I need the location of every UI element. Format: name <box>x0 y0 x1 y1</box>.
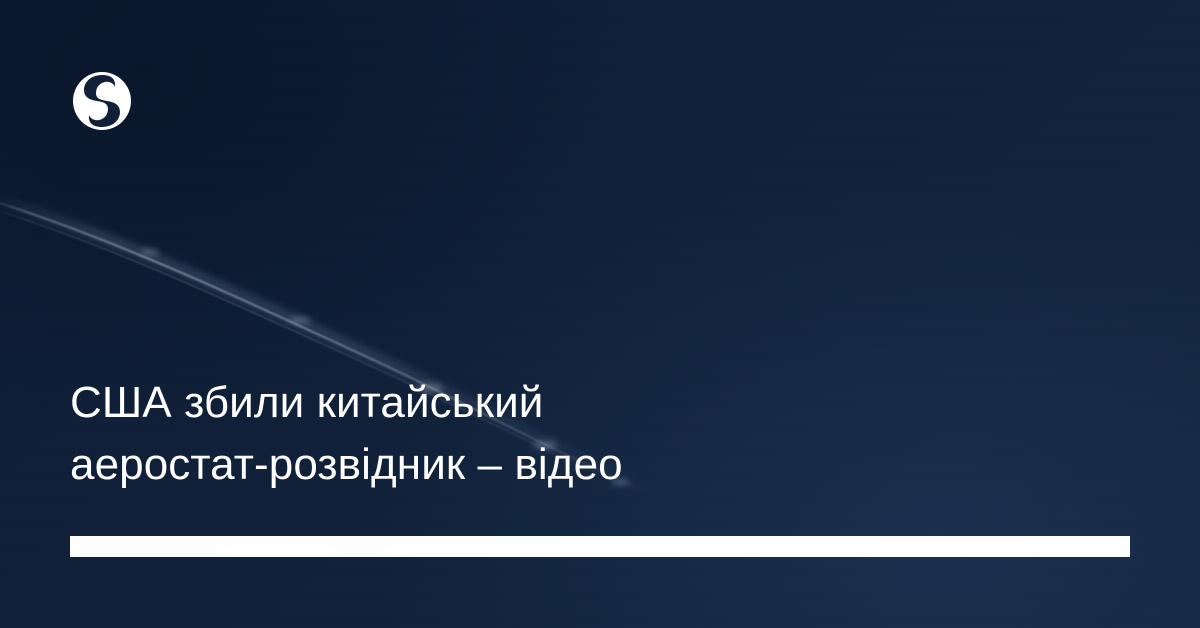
contrail-trail <box>0 0 1200 628</box>
hromadske-logo[interactable] <box>73 72 131 130</box>
headline-line-2: аеростат-розвідник – відео <box>70 434 1130 496</box>
social-share-card: США збили китайський аеростат-розвідник … <box>0 0 1200 628</box>
page-title: США збили китайський аеростат-розвідник … <box>70 372 1130 496</box>
headline-line-1: США збили китайський <box>70 372 1130 434</box>
accent-bar <box>70 536 1130 557</box>
